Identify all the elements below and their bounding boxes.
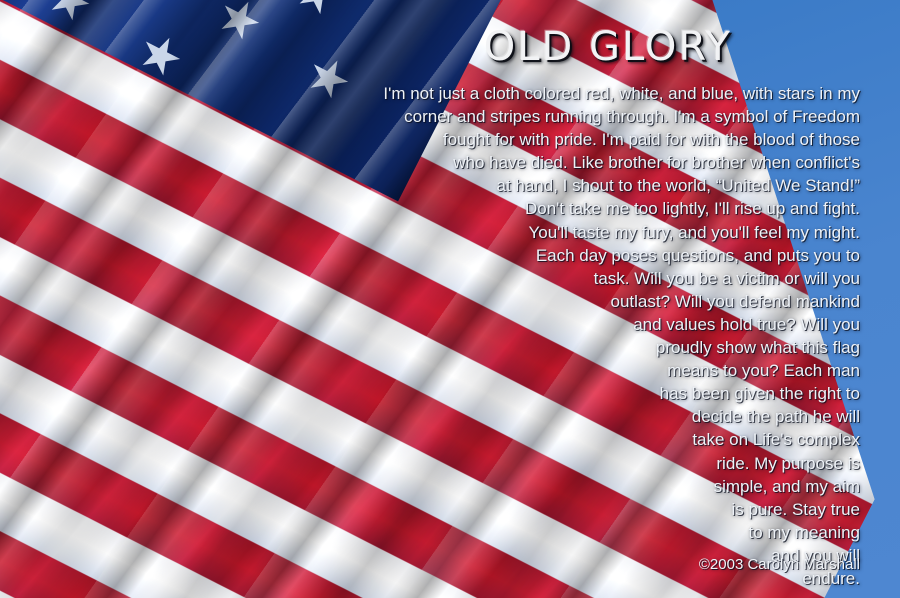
poem-text: I'm not just a cloth colored red, white,… [360,82,860,590]
poem-line: is pure. Stay true [360,498,860,521]
poem-line: take on Life's complex [360,428,860,451]
poem-line: corner and stripes running through. I'm … [360,105,860,128]
poem-line: Each day poses questions, and puts you t… [360,244,860,267]
poem-line: proudly show what this flag [360,336,860,359]
poem-line: fought for with pride. I'm paid for with… [360,128,860,151]
poem-line: and values hold true? Will you [360,313,860,336]
poem-line: ride. My purpose is [360,452,860,475]
poem-line: has been given the right to [360,382,860,405]
old-glory-poster: OLD GLORY I'm not just a cloth colored r… [0,0,900,598]
poem-line: means to you? Each man [360,359,860,382]
poem-line: at hand, I shout to the world, “United W… [360,174,860,197]
poem-line: simple, and my aim [360,475,860,498]
copyright-credit: ©2003 Carolyn Marshall [699,556,860,573]
poem-line: task. Will you be a victim or will you [360,267,860,290]
poem-line: outlast? Will you defend mankind [360,290,860,313]
poem-line: to my meaning [360,521,860,544]
poem-line: Don't take me too lightly, I'll rise up … [360,197,860,220]
poem-line: You'll taste my fury, and you'll feel my… [360,221,860,244]
page-title: OLD GLORY [484,24,732,70]
poem-line: I'm not just a cloth colored red, white,… [360,82,860,105]
poem-line: who have died. Like brother for brother … [360,151,860,174]
poem-line: decide the path he will [360,405,860,428]
